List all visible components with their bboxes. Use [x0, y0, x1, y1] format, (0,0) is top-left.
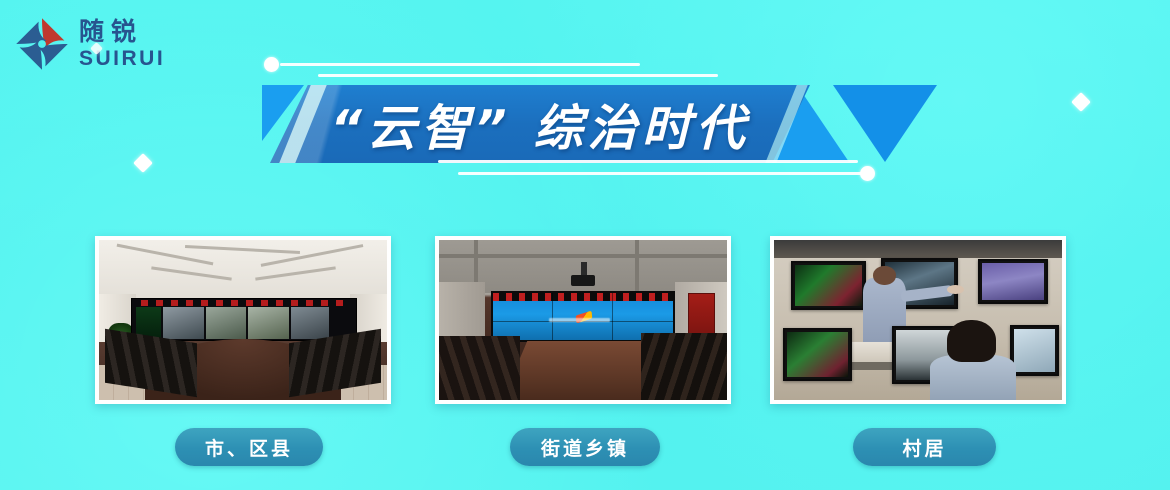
banner-bottom-line: [458, 172, 863, 175]
card-township[interactable]: 街道乡镇: [435, 236, 735, 404]
photo-frame: [435, 236, 731, 404]
page-title: “云智” 综治时代: [270, 85, 810, 163]
photo-frame: [770, 236, 1066, 404]
brand-name-cn: 随锐: [79, 19, 165, 44]
banner-top-line: [318, 74, 718, 77]
card-label-city-district[interactable]: 市、区县: [175, 428, 323, 466]
white-diamond-icon: [133, 153, 153, 173]
card-row: 市、区县: [0, 236, 1170, 476]
suirui-pinwheel-logo-icon: [14, 16, 70, 72]
banner-triangle-down-icon: [833, 85, 937, 162]
banner-top-dot-icon: [264, 57, 279, 72]
banner-top-line: [280, 63, 640, 66]
white-diamond-icon: [1071, 92, 1091, 112]
card-city-district[interactable]: 市、区县: [95, 236, 395, 404]
card-village[interactable]: 村居: [770, 236, 1070, 404]
card-label-township[interactable]: 街道乡镇: [510, 428, 660, 466]
brand-logo: 随锐 SUIRUI: [14, 16, 165, 72]
banner-bottom-dot-icon: [860, 166, 875, 181]
card-label-village[interactable]: 村居: [853, 428, 996, 466]
village-monitoring-room-photo: [774, 240, 1062, 400]
banner-bottom-line: [438, 160, 858, 163]
slide-background: 随锐 SUIRUI “云智” 综治时代: [0, 0, 1170, 490]
title-banner: “云智” 综治时代: [258, 52, 958, 187]
photo-frame: [95, 236, 391, 404]
township-meeting-room-photo: [439, 240, 727, 400]
city-district-command-center-photo: [99, 240, 387, 400]
